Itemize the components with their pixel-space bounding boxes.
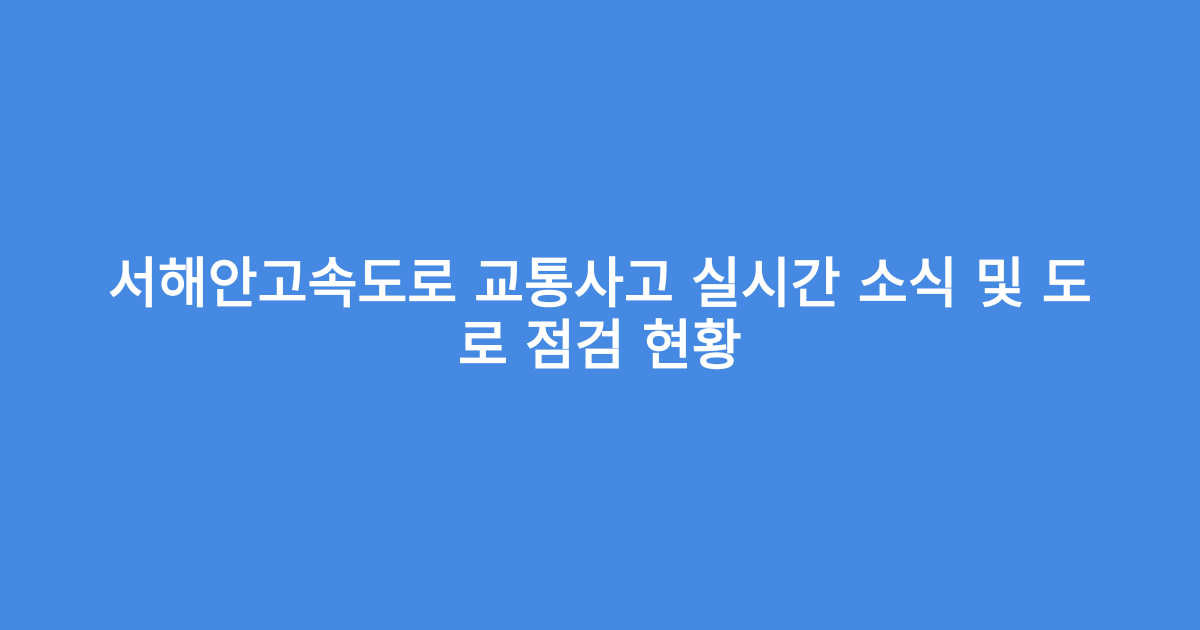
banner-canvas: 서해안고속도로 교통사고 실시간 소식 및 도로 점검 현황 — [0, 0, 1200, 630]
title-block: 서해안고속도로 교통사고 실시간 소식 및 도로 점검 현황 — [100, 253, 1100, 377]
page-title: 서해안고속도로 교통사고 실시간 소식 및 도로 점검 현황 — [100, 253, 1100, 377]
